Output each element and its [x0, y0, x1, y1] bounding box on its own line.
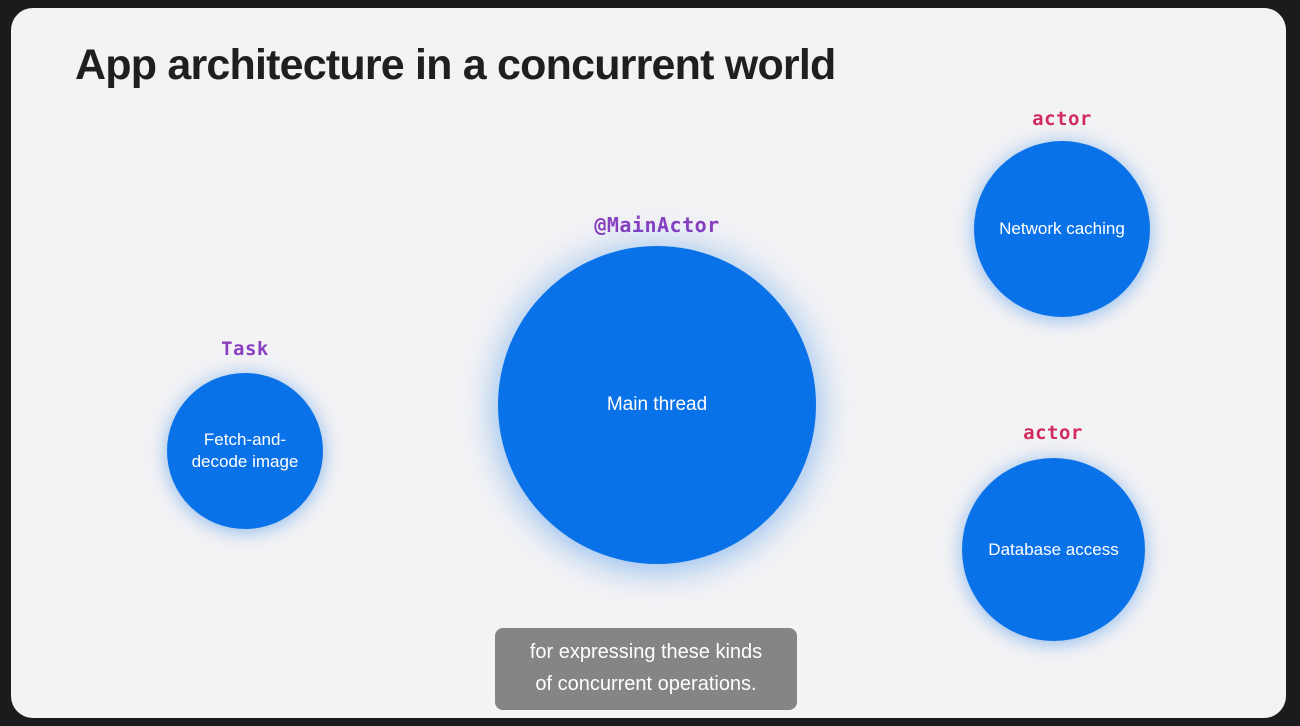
screen-frame: App architecture in a concurrent world T…	[0, 0, 1300, 726]
page-title: App architecture in a concurrent world	[75, 41, 835, 90]
node-mainactor-circle-text: Main thread	[607, 393, 707, 417]
caption-line-2: of concurrent operations.	[505, 668, 787, 700]
node-task-circle-text-line2: decode image	[192, 452, 299, 471]
node-database-circle-text: Database access	[988, 539, 1118, 561]
node-database-circle[interactable]: Database access	[962, 458, 1145, 641]
node-task-label: Task	[221, 338, 269, 360]
node-network-circle[interactable]: Network caching	[974, 141, 1150, 317]
node-task-circle-text: Fetch-and- decode image	[192, 429, 299, 473]
node-task-circle-text-line1: Fetch-and-	[204, 430, 286, 449]
caption-subtitle: for expressing these kinds of concurrent…	[495, 628, 797, 710]
node-mainactor-label: @MainActor	[594, 213, 719, 237]
caption-line-1: for expressing these kinds	[505, 636, 787, 668]
node-network-circle-text: Network caching	[999, 218, 1125, 240]
node-database-label: actor	[1023, 422, 1083, 444]
node-task-circle[interactable]: Fetch-and- decode image	[167, 373, 323, 529]
node-mainactor-circle[interactable]: Main thread	[498, 246, 816, 564]
node-network-label: actor	[1032, 108, 1092, 130]
slide-panel: App architecture in a concurrent world T…	[11, 8, 1286, 718]
